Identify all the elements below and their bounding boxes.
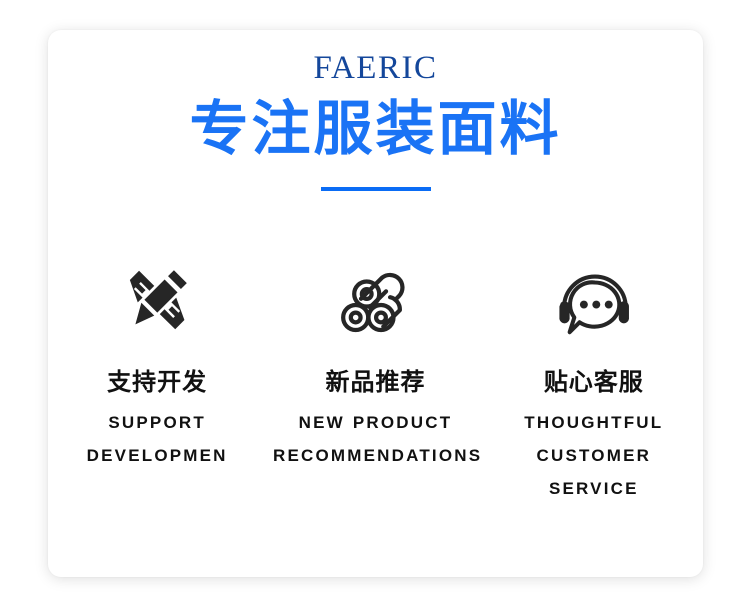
title-divider	[321, 187, 431, 191]
feature-card: FAERIC 专注服装面料	[48, 30, 703, 577]
fabric-rolls-icon	[327, 252, 423, 348]
feature-title: 支持开发	[107, 348, 207, 396]
feature-subtitle-line: SUPPORT	[87, 407, 228, 440]
feature-subtitle-line: SERVICE	[524, 473, 663, 506]
pencil-ruler-icon	[109, 252, 205, 348]
page-title: 专注服装面料	[48, 85, 703, 162]
feature-subtitle: THOUGHTFUL CUSTOMER SERVICE	[524, 396, 663, 505]
feature-subtitle: NEW PRODUCT RECOMMENDATIONS	[273, 396, 478, 472]
headset-chat-icon	[546, 252, 642, 348]
feature-list: 支持开发 SUPPORT DEVELOPMEN	[48, 252, 703, 505]
feature-subtitle-line: RECOMMENDATIONS	[273, 440, 478, 473]
banner-canvas: FAERIC 专注服装面料	[0, 0, 750, 615]
header-block: FAERIC 专注服装面料	[48, 30, 703, 191]
feature-item-support-development[interactable]: 支持开发 SUPPORT DEVELOPMEN	[48, 252, 266, 473]
feature-subtitle-line: THOUGHTFUL	[524, 407, 663, 440]
divider-wrapper	[48, 162, 703, 191]
feature-subtitle-line: CUSTOMER	[524, 440, 663, 473]
feature-title: 新品推荐	[325, 348, 425, 396]
feature-title: 贴心客服	[544, 348, 644, 396]
feature-subtitle-line: NEW PRODUCT	[273, 407, 478, 440]
feature-item-customer-service[interactable]: 贴心客服 THOUGHTFUL CUSTOMER SERVICE	[485, 252, 703, 505]
feature-subtitle: SUPPORT DEVELOPMEN	[87, 396, 228, 472]
feature-item-new-product[interactable]: 新品推荐 NEW PRODUCT RECOMMENDATIONS	[266, 252, 484, 473]
feature-subtitle-line: DEVELOPMEN	[87, 440, 228, 473]
brand-name: FAERIC	[48, 30, 703, 85]
